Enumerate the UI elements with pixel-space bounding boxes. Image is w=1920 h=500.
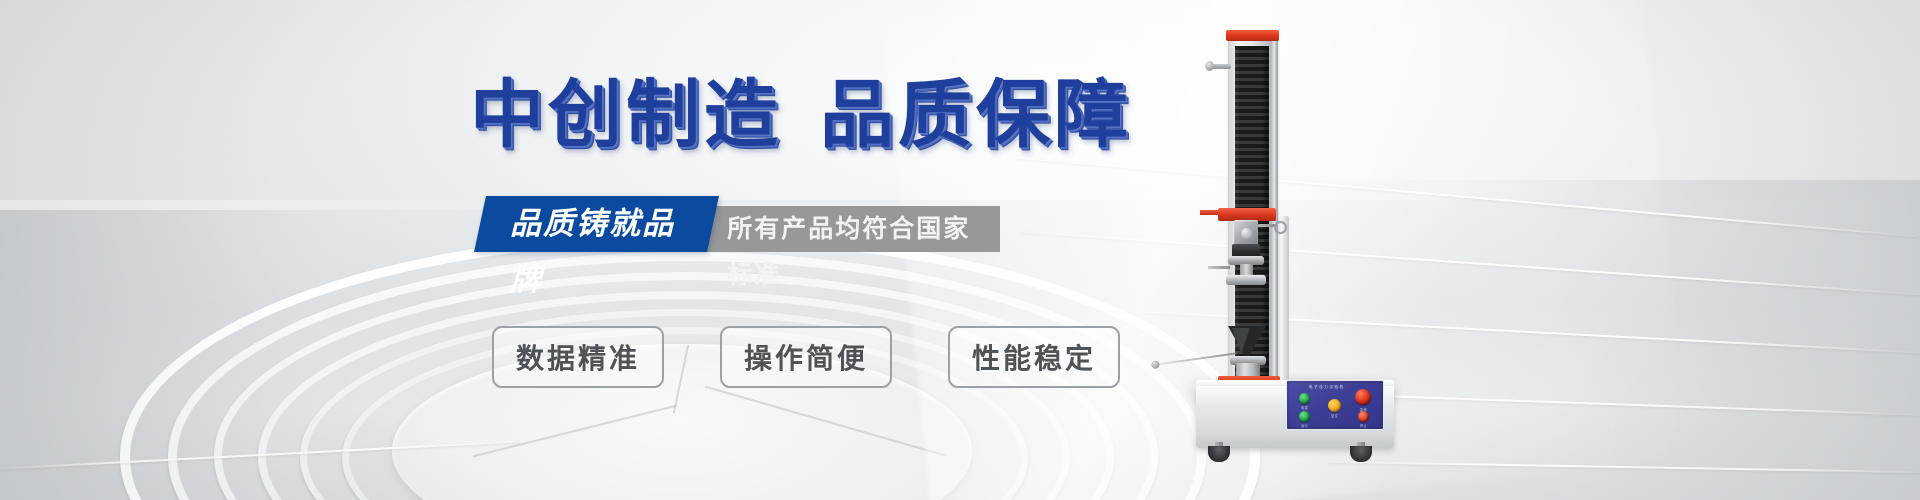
machine-limit-switch-icon (1211, 64, 1231, 69)
machine-grip-disc-lower (1226, 275, 1266, 285)
banner-headline: 中创制造品质保障 (470, 55, 1132, 162)
power-indicator-icon[interactable] (1299, 393, 1310, 404)
stop-button-icon[interactable] (1358, 411, 1369, 422)
machine-control-panel[interactable]: 电子拉力试验机 电源 运行 复位 急停 停止 (1286, 380, 1384, 430)
feature-pill-label: 操作简便 (744, 343, 868, 374)
machine-column-side-cover (1278, 216, 1289, 386)
banner-badge-row: 品质铸就品牌 所有产品均符合国家标准 (480, 196, 1000, 252)
run-indicator-icon[interactable] (1299, 411, 1310, 422)
machine-column-top-cap (1226, 30, 1279, 41)
secondary-badge-label: 所有产品均符合国家标准 (727, 215, 970, 289)
power-indicator-caption: 电源 (1293, 405, 1316, 410)
feature-pill-easy-operation: 操作简便 (720, 326, 892, 388)
headline-part-2: 品质保障 (820, 73, 1132, 156)
secondary-badge: 所有产品均符合国家标准 (701, 206, 1000, 252)
run-indicator-caption: 运行 (1293, 423, 1316, 428)
headline-part-1: 中创制造 (470, 73, 782, 156)
machine-foot (1350, 446, 1372, 462)
stop-button-caption: 停止 (1352, 423, 1375, 428)
feature-pill-stable-performance: 性能稳定 (948, 326, 1120, 388)
machine-load-cell (1234, 220, 1258, 246)
machine-grip-rod (1208, 266, 1230, 269)
machine-adjust-knob-icon (1258, 224, 1276, 227)
emergency-stop-button-icon[interactable] (1355, 389, 1371, 405)
reset-button-icon[interactable] (1328, 399, 1341, 412)
machine-lower-fixture-highlight (1232, 328, 1250, 354)
control-panel-title: 电子拉力试验机 (1309, 385, 1345, 390)
product-tensile-testing-machine: 电子拉力试验机 电源 运行 复位 急停 停止 (1178, 8, 1408, 488)
hero-banner: 中创制造品质保障 品质铸就品牌 所有产品均符合国家标准 数据精准 操作简便 性能… (0, 0, 1920, 500)
reset-button-caption: 复位 (1322, 413, 1347, 418)
banner-content: 中创制造品质保障 品质铸就品牌 所有产品均符合国家标准 数据精准 操作简便 性能… (0, 0, 1000, 500)
feature-pill-list: 数据精准 操作简便 性能稳定 (492, 326, 1120, 388)
primary-badge-label: 品质铸就品牌 (510, 196, 677, 308)
primary-badge: 品质铸就品牌 (474, 196, 719, 252)
feature-pill-label: 数据精准 (516, 343, 640, 374)
feature-pill-label: 性能稳定 (972, 343, 1096, 374)
machine-foot (1208, 446, 1230, 462)
feature-pill-data-accuracy: 数据精准 (492, 326, 664, 388)
